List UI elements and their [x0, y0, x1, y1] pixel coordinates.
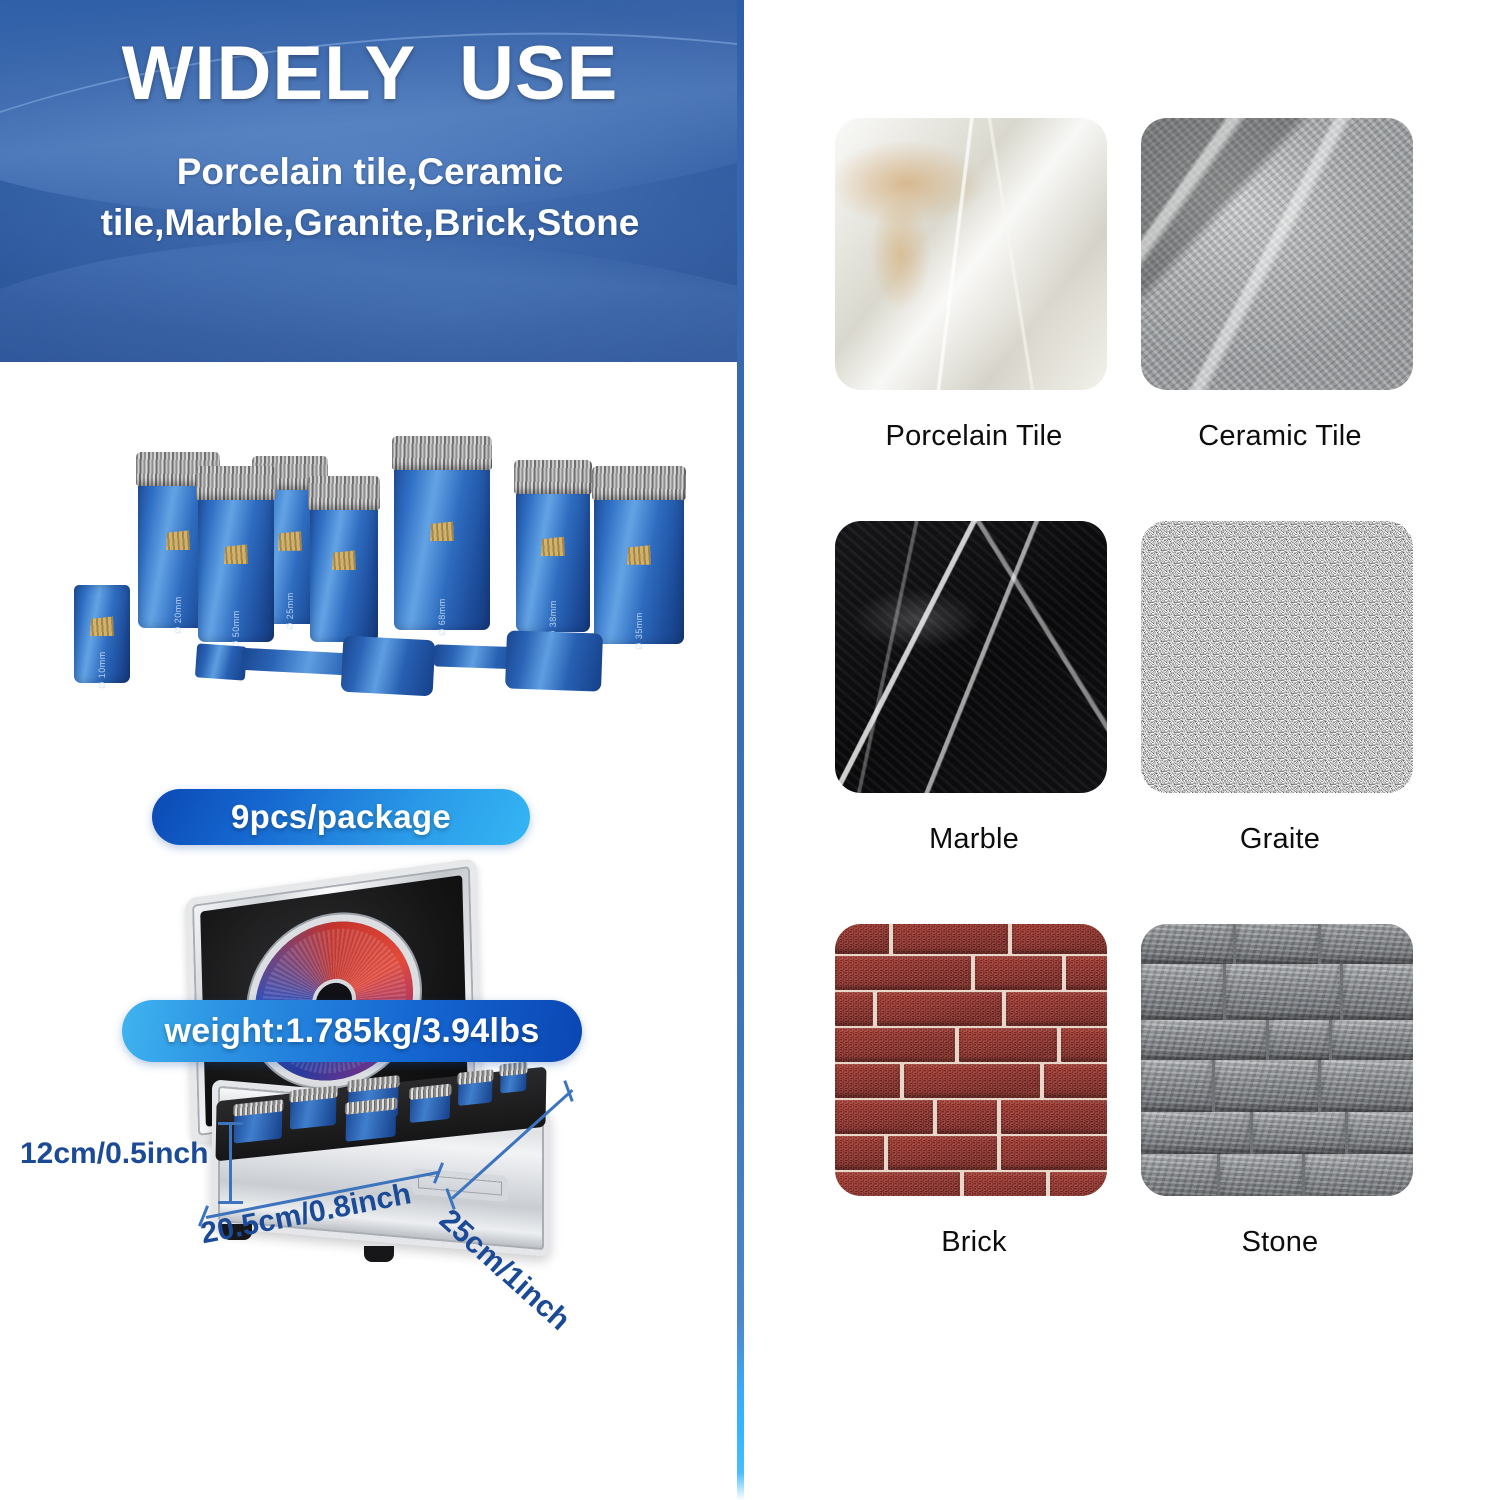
stone-unit — [1141, 1154, 1217, 1196]
brick-row — [835, 1100, 1107, 1134]
material-swatch-grid: Porcelain Tile Ceramic Tile Marble Grait… — [835, 118, 1440, 1259]
drill-bit-8mm-body — [341, 636, 436, 697]
header-banner: WIDELY USE Porcelain tile,Ceramic tile,M… — [0, 0, 740, 362]
swatch-stone — [1141, 924, 1413, 1196]
brand-logo-icon — [429, 517, 455, 541]
diamond-crown-icon — [196, 466, 276, 500]
case-bit — [500, 1071, 526, 1094]
case-foot — [364, 1246, 394, 1262]
drill-bit-size-label: Ø 20mm — [173, 596, 183, 634]
dimension-cap-height-bottom — [218, 1201, 243, 1204]
drill-bit-50mm: Ø 50mm — [198, 492, 274, 642]
material-label-stone: Stone — [1141, 1226, 1419, 1259]
brick-row — [835, 1136, 1107, 1170]
dimension-line-height — [229, 1122, 232, 1204]
brand-logo-icon — [626, 541, 652, 565]
banner-subtitle: Porcelain tile,Ceramic tile,Marble,Grani… — [101, 146, 640, 248]
diamond-crown-icon — [392, 436, 492, 470]
stone-unit — [1141, 924, 1233, 964]
material-cell-brick: Brick — [835, 924, 1113, 1259]
case-bit — [346, 1106, 397, 1141]
material-cell-marble: Marble — [835, 521, 1113, 856]
brand-logo-icon — [540, 532, 566, 556]
stone-unit — [1348, 1112, 1413, 1154]
brick-unit — [1050, 1172, 1107, 1196]
brick-unit — [1001, 1100, 1107, 1134]
stone-unit — [1220, 1154, 1302, 1196]
case-bit — [234, 1108, 283, 1143]
stone-unit — [1226, 964, 1340, 1020]
stone-unit — [1269, 1020, 1329, 1060]
brick-row — [835, 1172, 1107, 1196]
stone-unit — [1321, 924, 1413, 964]
material-label-granite: Graite — [1141, 823, 1419, 856]
drill-bit-size-label: Ø 68mm — [437, 598, 447, 636]
brand-logo-icon — [331, 546, 357, 570]
swatch-porcelain-tile — [835, 118, 1107, 390]
product-infographic: WIDELY USE Porcelain tile,Ceramic tile,M… — [0, 0, 1500, 1500]
stone-unit — [1141, 1112, 1250, 1154]
banner-content: WIDELY USE Porcelain tile,Ceramic tile,M… — [0, 0, 740, 362]
material-cell-granite: Graite — [1141, 521, 1419, 856]
brick-unit — [893, 924, 1007, 954]
left-column: Ø 20mm Ø 25mm Ø 68mm Ø 38mm Ø 35mm — [0, 362, 737, 1500]
brick-unit — [835, 1028, 955, 1062]
brick-unit — [835, 924, 889, 954]
case-bit — [290, 1095, 337, 1130]
brick-unit — [904, 1064, 1040, 1098]
pcs-badge: 9pcs/package — [152, 789, 530, 845]
brick-unit — [835, 992, 873, 1026]
brand-logo-icon — [89, 612, 115, 636]
brick-unit — [835, 956, 971, 990]
drill-bit-38mm: Ø 38mm — [516, 486, 590, 632]
brick-unit — [975, 956, 1062, 990]
dimension-label-height: 12cm/0.5inch — [20, 1137, 208, 1171]
brick-unit — [835, 1136, 884, 1170]
diamond-crown-icon — [592, 466, 686, 500]
dimension-cap-height-top — [218, 1122, 243, 1125]
weight-badge: weight:1.785kg/3.94lbs — [122, 1000, 582, 1062]
brick-unit — [888, 1136, 997, 1170]
stone-unit — [1215, 1060, 1318, 1112]
brand-logo-icon — [223, 540, 249, 564]
drill-bit-10mm: Ø 10mm — [74, 585, 130, 683]
material-label-marble: Marble — [835, 823, 1113, 856]
brick-unit — [835, 1172, 960, 1196]
brick-row — [835, 1064, 1107, 1098]
stone-row — [1141, 1112, 1413, 1154]
brick-unit — [1006, 992, 1107, 1026]
brick-unit — [877, 992, 1002, 1026]
brick-unit — [1061, 1028, 1107, 1062]
stone-unit — [1141, 1020, 1266, 1060]
stone-row — [1141, 1154, 1413, 1196]
stone-unit — [1253, 1112, 1345, 1154]
material-label-porcelain-tile: Porcelain Tile — [835, 420, 1113, 453]
stone-row — [1141, 924, 1413, 964]
brick-unit — [835, 1064, 900, 1098]
drill-bit-68mm: Ø 68mm — [394, 462, 490, 630]
stone-row — [1141, 1020, 1413, 1060]
material-cell-porcelain-tile: Porcelain Tile — [835, 118, 1113, 453]
material-cell-stone: Stone — [1141, 924, 1419, 1259]
stone-unit — [1141, 964, 1223, 1020]
brand-logo-icon — [165, 526, 191, 550]
drill-bit-size-label: Ø 25mm — [285, 592, 295, 630]
stone-unit — [1236, 924, 1318, 964]
brick-unit — [1001, 1136, 1107, 1170]
banner-subtitle-line-1: Porcelain tile,Ceramic — [101, 146, 640, 197]
brand-logo-icon — [277, 527, 303, 551]
drill-bit-size-label: Ø 50mm — [231, 610, 241, 648]
brick-unit — [1012, 924, 1107, 954]
swatch-marble — [835, 521, 1107, 793]
drill-bit-8mm — [195, 643, 247, 680]
diamond-crown-icon — [308, 476, 380, 510]
brick-unit — [835, 1100, 933, 1134]
brick-unit — [937, 1100, 997, 1134]
stone-row — [1141, 964, 1413, 1020]
drill-bit-size-label: Ø 10mm — [97, 651, 107, 689]
stone-unit — [1343, 964, 1413, 1020]
swatch-ceramic-tile — [1141, 118, 1413, 390]
drill-bit-6mm-body — [505, 630, 603, 691]
right-column: Porcelain Tile Ceramic Tile Marble Grait… — [800, 0, 1500, 1500]
brick-unit — [964, 1172, 1046, 1196]
brick-row — [835, 924, 1107, 954]
brick-row — [835, 1028, 1107, 1062]
swatch-brick — [835, 924, 1107, 1196]
brick-row — [835, 956, 1107, 990]
banner-subtitle-line-2: tile,Marble,Granite,Brick,Stone — [101, 197, 640, 248]
brick-row — [835, 992, 1107, 1026]
material-label-ceramic-tile: Ceramic Tile — [1141, 420, 1419, 453]
material-cell-ceramic-tile: Ceramic Tile — [1141, 118, 1419, 453]
stone-unit — [1332, 1020, 1413, 1060]
case-bit — [410, 1093, 450, 1123]
brick-unit — [1044, 1064, 1107, 1098]
stone-unit — [1141, 1060, 1212, 1112]
stone-unit — [1321, 1060, 1413, 1112]
stone-unit — [1305, 1154, 1413, 1196]
swatch-granite — [1141, 521, 1413, 793]
drill-bit-front-b — [310, 502, 378, 642]
brick-unit — [1066, 956, 1107, 990]
diamond-crown-icon — [514, 460, 592, 494]
drill-bit-size-label: Ø 35mm — [634, 612, 644, 650]
banner-title: WIDELY USE — [122, 34, 619, 114]
drill-bit-35mm: Ø 35mm — [594, 492, 684, 644]
drill-bits-photo: Ø 20mm Ø 25mm Ø 68mm Ø 38mm Ø 35mm — [46, 440, 686, 750]
material-label-brick: Brick — [835, 1226, 1113, 1259]
case-bit — [458, 1078, 492, 1106]
stone-row — [1141, 1060, 1413, 1112]
vertical-divider-accent — [737, 1432, 744, 1500]
brick-unit — [959, 1028, 1057, 1062]
